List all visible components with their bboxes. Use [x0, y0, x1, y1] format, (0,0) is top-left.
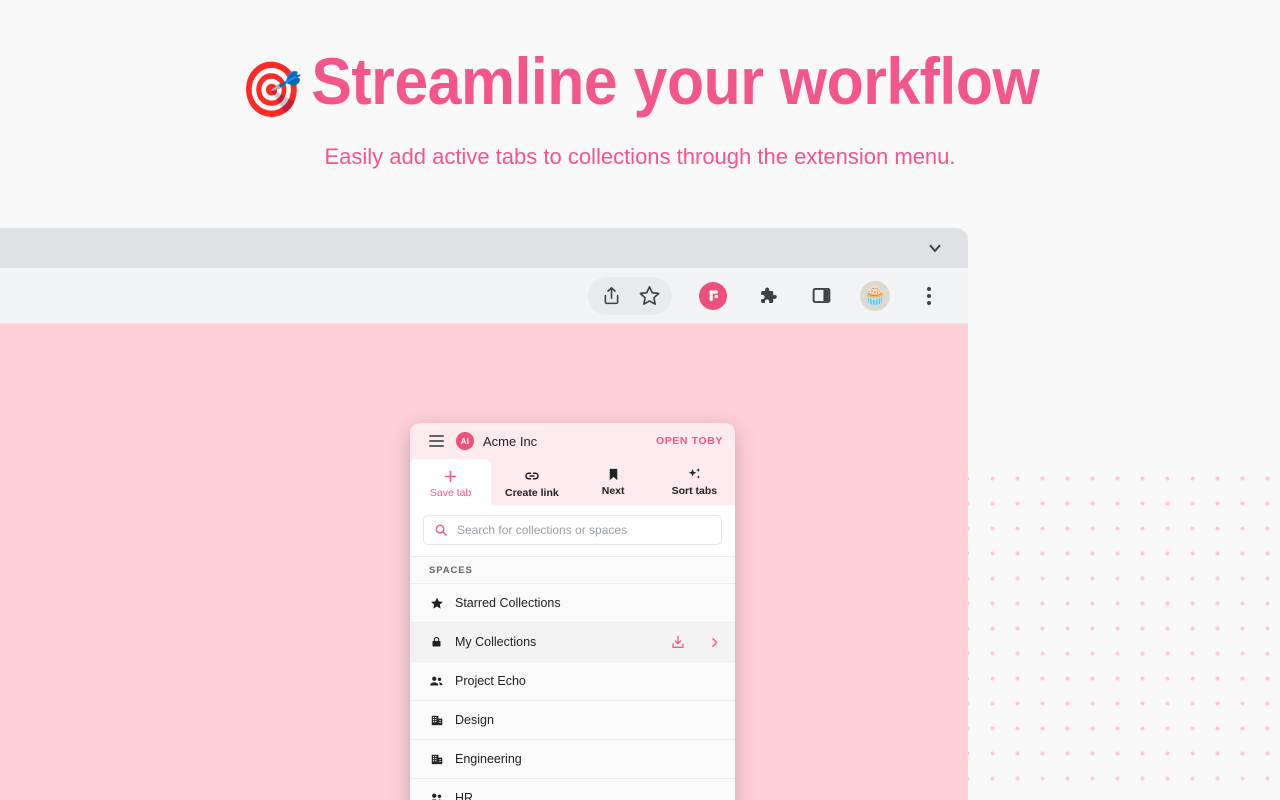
browser-viewport: AI Acme Inc OPEN TOBY Save tab: [0, 323, 968, 800]
hamburger-menu-icon[interactable]: [429, 435, 444, 447]
chevron-down-icon[interactable]: [924, 237, 946, 259]
sparkles-icon: [686, 466, 703, 483]
page-title-text: Streamline your workflow: [311, 44, 1039, 118]
extensions-puzzle-icon[interactable]: [748, 277, 786, 315]
popup-brand-row: AI Acme Inc OPEN TOBY: [410, 423, 735, 459]
list-item[interactable]: HR: [410, 779, 735, 800]
list-item-label: HR: [455, 791, 473, 800]
list-item[interactable]: Design: [410, 701, 735, 740]
save-download-icon[interactable]: [670, 634, 686, 650]
side-panel-icon[interactable]: [802, 277, 840, 315]
browser-window: 🧁 AI Acme Inc OPEN TOBY: [0, 228, 968, 800]
toolbar-pill-group: [588, 277, 672, 315]
bookmark-filled-icon: [606, 466, 621, 483]
spaces-section-label: SPACES: [410, 556, 735, 584]
dart-target-icon: 🎯: [241, 60, 302, 120]
sort-tabs-label: Sort tabs: [672, 485, 718, 497]
search-icon: [434, 523, 448, 537]
list-item[interactable]: Project Echo: [410, 662, 735, 701]
popup-header: AI Acme Inc OPEN TOBY Save tab: [410, 423, 735, 505]
share-icon[interactable]: [592, 277, 630, 315]
link-icon: [523, 468, 541, 485]
star-icon: [429, 596, 444, 610]
profile-avatar-icon[interactable]: 🧁: [856, 277, 894, 315]
save-tab-button[interactable]: Save tab: [410, 459, 491, 505]
list-item-label: Starred Collections: [455, 596, 561, 610]
more-vertical-icon[interactable]: [910, 277, 948, 315]
building-icon: [429, 713, 444, 727]
save-tab-label: Save tab: [430, 487, 471, 499]
chevron-right-icon[interactable]: [708, 636, 721, 649]
create-link-label: Create link: [505, 487, 559, 499]
bookmark-star-icon[interactable]: [630, 277, 668, 315]
list-item-label: Project Echo: [455, 674, 526, 688]
browser-tabstrip: [0, 228, 968, 268]
people-icon: [429, 675, 444, 688]
page-subtitle: Easily add active tabs to collections th…: [0, 144, 1280, 170]
browser-toolbar: 🧁: [0, 268, 968, 323]
list-item-label: Engineering: [455, 752, 522, 766]
lock-icon: [429, 635, 444, 649]
team-avatar: AI: [456, 432, 474, 450]
sort-tabs-button[interactable]: Sort tabs: [654, 459, 735, 505]
list-item-label: Design: [455, 713, 494, 727]
open-toby-link[interactable]: OPEN TOBY: [656, 435, 723, 447]
popup-search-area: [410, 505, 735, 556]
create-link-button[interactable]: Create link: [491, 459, 572, 505]
toby-extension-popup: AI Acme Inc OPEN TOBY Save tab: [410, 423, 735, 800]
next-label: Next: [602, 485, 625, 497]
hero-section: 🎯Streamline your workflow Easily add act…: [0, 0, 1280, 170]
list-item-label: My Collections: [455, 635, 536, 649]
people-icon: [429, 792, 444, 800]
spaces-list: Starred Collections My Collections: [410, 584, 735, 800]
team-name: Acme Inc: [483, 434, 537, 449]
list-item-tools: [670, 634, 721, 650]
building-icon: [429, 752, 444, 766]
popup-action-bar: Save tab Create link: [410, 459, 735, 505]
plus-icon: [442, 468, 459, 485]
list-item[interactable]: Engineering: [410, 740, 735, 779]
search-input[interactable]: [457, 523, 711, 537]
page-title: 🎯Streamline your workflow: [51, 44, 1229, 121]
next-button[interactable]: Next: [573, 459, 654, 505]
avatar: 🧁: [860, 281, 890, 311]
toby-extension-icon[interactable]: [694, 277, 732, 315]
search-box[interactable]: [423, 515, 722, 545]
list-item[interactable]: Starred Collections: [410, 584, 735, 623]
list-item[interactable]: My Collections: [410, 623, 735, 662]
